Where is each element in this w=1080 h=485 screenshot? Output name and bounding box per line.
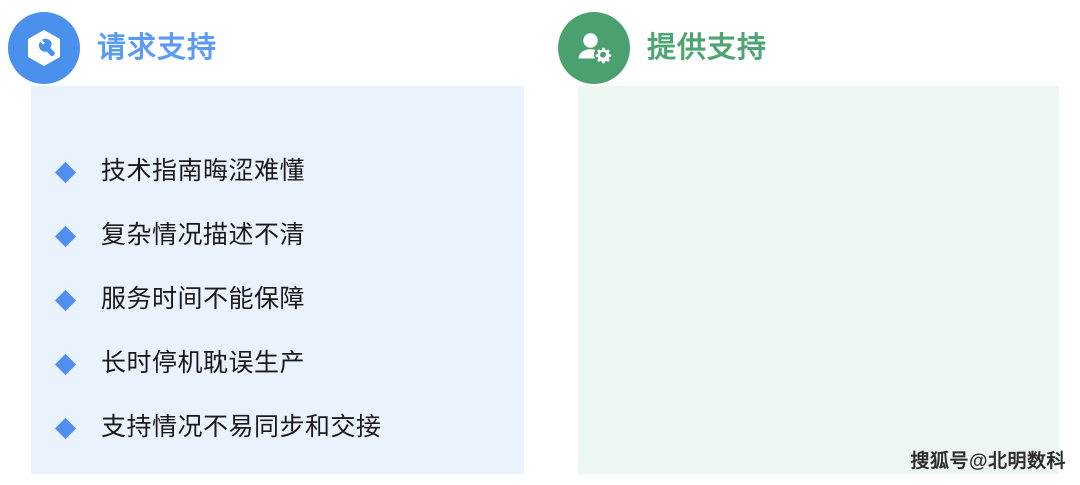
- two-column-comparison-board: 请求支持 技术指南晦涩难懂 复杂情况描述不清 服务时间不能保障 长时停机耽误生产: [0, 0, 1080, 485]
- watermark: 搜狐号@北明数科: [910, 446, 1066, 473]
- diamond-bullet-icon: [55, 417, 76, 438]
- list-item: 支持情况不易同步和交接: [58, 396, 498, 460]
- list-item-label: 服务时间不能保障: [101, 286, 305, 314]
- list-item: 技术指南晦涩难懂: [58, 140, 498, 204]
- list-item: 服务时间不能保障: [58, 268, 498, 332]
- list-item-label: 支持情况不易同步和交接: [101, 414, 382, 442]
- list-item-label: 长时停机耽误生产: [101, 350, 305, 378]
- list-item: 长时停机耽误生产: [58, 332, 498, 396]
- panel-provide-support: [578, 86, 1059, 474]
- column-title-request-support: 请求支持: [97, 34, 217, 63]
- wrench-hexagon-icon: [8, 12, 80, 84]
- diamond-bullet-icon: [55, 161, 76, 182]
- diamond-bullet-icon: [55, 289, 76, 310]
- diamond-bullet-icon: [55, 353, 76, 374]
- list-item-label: 复杂情况描述不清: [101, 222, 305, 250]
- header-request-support: 请求支持: [8, 11, 217, 85]
- user-gear-icon: [558, 12, 630, 84]
- column-title-provide-support: 提供支持: [647, 34, 767, 63]
- header-provide-support: 提供支持: [558, 11, 767, 85]
- list-item: 复杂情况描述不清: [58, 204, 498, 268]
- list-item-label: 技术指南晦涩难懂: [101, 158, 305, 186]
- bullet-list-request-support: 技术指南晦涩难懂 复杂情况描述不清 服务时间不能保障 长时停机耽误生产 支持情况…: [58, 140, 498, 460]
- diamond-bullet-icon: [55, 225, 76, 246]
